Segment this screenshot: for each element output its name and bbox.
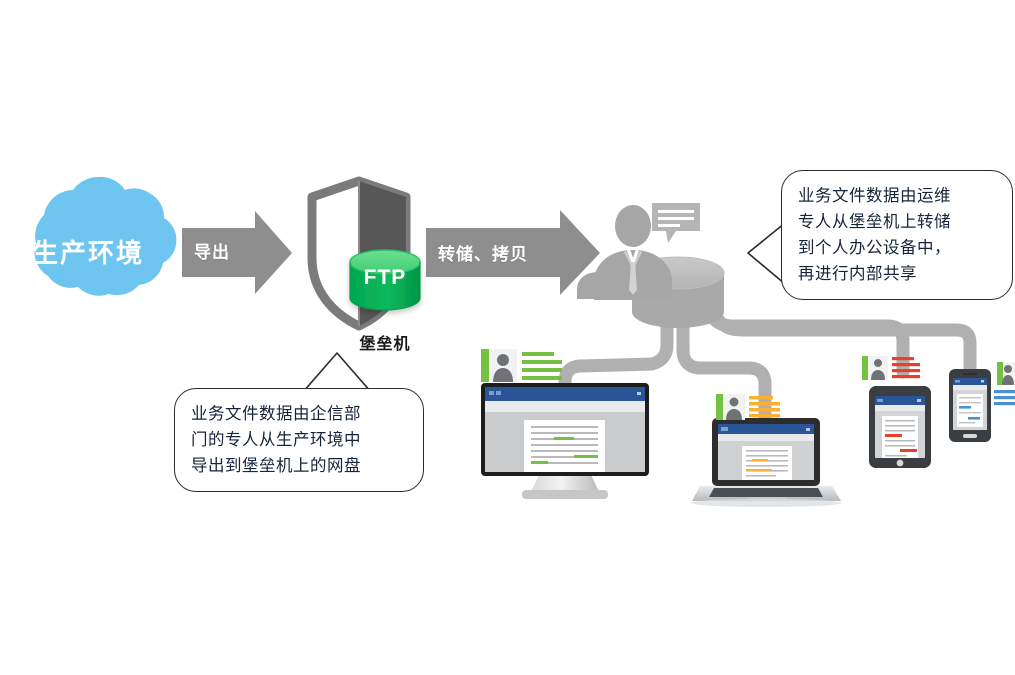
tablet-device: [862, 356, 931, 468]
diagram-canvas: 生产环境 导出 转储、拷贝 FTP 堡垒机 业务文件数据由企信部 门的专人从生产…: [0, 0, 1015, 675]
callout-right: 业务文件数据由运维 专人从堡垒机上转储 到个人办公设备中， 再进行内部共享: [781, 170, 1013, 300]
callout-left: 业务文件数据由企信部 门的专人从生产环境中 导出到堡垒机上的网盘: [174, 388, 424, 492]
phone-user-card: [997, 362, 1015, 385]
laptop-device: [691, 394, 841, 507]
cloud-label: 生产环境: [8, 233, 168, 270]
callout-left-text: 业务文件数据由企信部 门的专人从生产环境中 导出到堡垒机上的网盘: [175, 389, 423, 491]
tablet-user-card: [862, 356, 920, 380]
callout-left-bubble: 业务文件数据由企信部 门的专人从生产环境中 导出到堡垒机上的网盘: [174, 388, 424, 492]
phone-user-card-text: [994, 390, 1015, 405]
bastion-host-label: 堡垒机: [300, 330, 470, 354]
desktop-user-card: [481, 349, 562, 382]
speech-bubble-icon: [652, 203, 700, 243]
transfer-arrow-label: 转储、拷贝: [438, 240, 528, 265]
ftp-storage-label: FTP: [350, 266, 420, 290]
callout-right-text: 业务文件数据由运维 专人从堡垒机上转储 到个人办公设备中， 再进行内部共享: [782, 171, 1012, 299]
diagram-vector-layer: [0, 0, 1015, 675]
callout-right-bubble: 业务文件数据由运维 专人从堡垒机上转储 到个人办公设备中， 再进行内部共享: [781, 170, 1013, 300]
export-arrow-label: 导出: [194, 238, 230, 263]
